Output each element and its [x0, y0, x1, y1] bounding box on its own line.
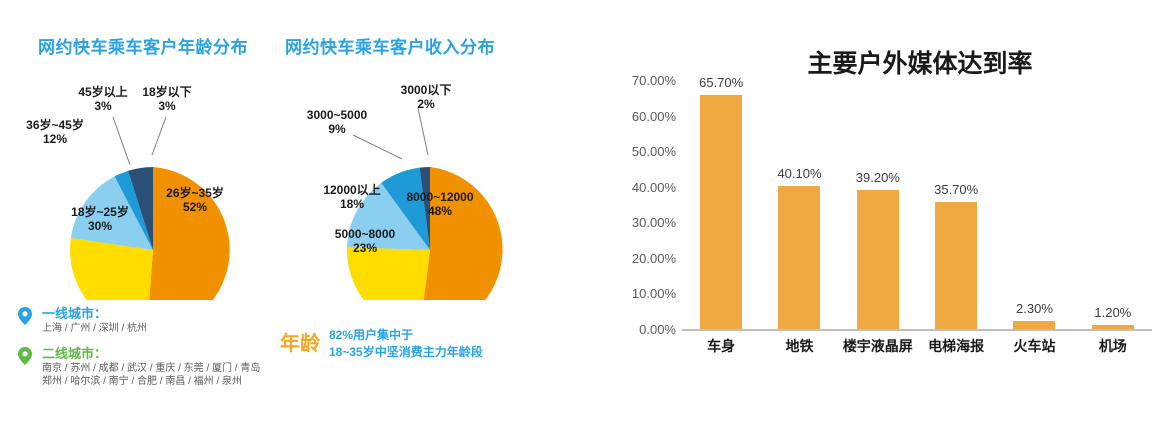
- pie1-label-26-35: 26岁~35岁 52%: [155, 186, 235, 214]
- tier2-city-row: 二线城市： 南京 / 苏州 / 成都 / 武汉 / 重庆 / 东莞 / 厦门 /…: [18, 346, 260, 388]
- bar-chart-bar[interactable]: [778, 186, 820, 329]
- pie2-title: 网约快车乘车客户收入分布: [285, 33, 495, 58]
- pie2-label-3000-5000-name: 3000~5000: [307, 108, 367, 122]
- bar-chart-bar-group[interactable]: 35.70%电梯海报: [917, 80, 995, 329]
- tier1-city-row: 一线城市： 上海 / 广州 / 深圳 / 杭州: [18, 306, 260, 335]
- age-callout-text: 82%用户集中于 18~35岁中坚消费主力年龄段: [329, 327, 483, 361]
- tier2-city-list-line1: 南京 / 苏州 / 成都 / 武汉 / 重庆 / 东莞 / 厦门 / 青岛: [42, 362, 260, 375]
- bar-chart-category-label: 机场: [1074, 336, 1152, 356]
- pie1-label-36-45-name: 36岁~45岁: [26, 118, 84, 132]
- bar-chart-ytick: 30.00%: [606, 216, 676, 229]
- bar-chart: 70.00%60.00%50.00%40.00%30.00%20.00%10.0…: [600, 80, 1160, 400]
- bar-chart-plot-area: 65.70%车身40.10%地铁39.20%楼宇液晶屏35.70%电梯海报2.3…: [682, 80, 1152, 329]
- age-callout-line1: 82%用户集中于: [329, 327, 483, 344]
- bar-chart-value-label: 1.20%: [1094, 306, 1131, 319]
- bar-chart-bar-group[interactable]: 2.30%火车站: [995, 80, 1073, 329]
- bar-chart-category-label: 楼宇液晶屏: [839, 336, 917, 356]
- pie1-label-45-plus-name: 45岁以上: [78, 85, 127, 99]
- pie2-label-12000-above: 12000以上 18%: [310, 183, 394, 211]
- bar-chart-category-label: 车身: [682, 336, 760, 356]
- pie1-label-18-below: 18岁以下 3%: [136, 85, 198, 113]
- bar-chart-bar-group[interactable]: 40.10%地铁: [760, 80, 838, 329]
- pie1-label-36-45: 36岁~45岁 12%: [22, 118, 88, 146]
- bar-chart-bar[interactable]: [857, 190, 899, 329]
- pie1-label-18-below-pct: 3%: [158, 99, 175, 113]
- pie2-leader-3000-below: [418, 108, 428, 155]
- pie1-label-18-below-name: 18岁以下: [142, 85, 191, 99]
- bar-chart-value-label: 65.70%: [699, 76, 743, 89]
- pie2-label-3000-below-name: 3000以下: [401, 83, 452, 97]
- city-coverage-block: 一线城市： 上海 / 广州 / 深圳 / 杭州 二线城市： 南京 / 苏州 / …: [18, 306, 260, 399]
- age-callout: 年龄 82%用户集中于 18~35岁中坚消费主力年龄段: [280, 327, 483, 361]
- bar-chart-value-label: 39.20%: [856, 171, 900, 184]
- pie2-label-8000-12000-name: 8000~12000: [406, 190, 473, 204]
- pie2-slice-5000-8000: [347, 247, 430, 300]
- pie2-label-5000-8000-pct: 23%: [353, 241, 377, 255]
- bar-chart-value-label: 2.30%: [1016, 302, 1053, 315]
- pie1-label-26-35-pct: 52%: [183, 200, 207, 214]
- pie1-title: 网约快车乘车客户年龄分布: [38, 33, 248, 58]
- pie2-leader-3000-5000: [353, 135, 402, 159]
- bar-chart-value-label: 35.70%: [934, 183, 978, 196]
- pie2-label-5000-8000-name: 5000~8000: [335, 227, 395, 241]
- tier2-city-label: 二线城市：: [42, 346, 260, 362]
- bar-chart-ytick: 0.00%: [606, 323, 676, 336]
- pie1-label-18-25-pct: 30%: [88, 219, 112, 233]
- pie2-label-12000-above-name: 12000以上: [323, 183, 380, 197]
- pie1-label-18-25: 18岁~25岁 30%: [60, 205, 140, 233]
- pie2-label-3000-below: 3000以下 2%: [390, 83, 462, 111]
- bar-chart-bar[interactable]: [1013, 321, 1055, 329]
- bar-chart-category-label: 火车站: [995, 336, 1073, 356]
- tier1-city-label: 一线城市：: [42, 306, 260, 322]
- bar-chart-ytick: 70.00%: [606, 74, 676, 87]
- pie1-label-26-35-name: 26岁~35岁: [166, 186, 224, 200]
- bar-chart-ytick: 20.00%: [606, 252, 676, 265]
- bar-chart-category-label: 地铁: [760, 336, 838, 356]
- bar-chart-ytick: 50.00%: [606, 145, 676, 158]
- age-callout-badge: 年龄: [280, 334, 320, 355]
- pie1-label-18-25-name: 18岁~25岁: [71, 205, 129, 219]
- bar-chart-y-axis: 70.00%60.00%50.00%40.00%30.00%20.00%10.0…: [600, 80, 676, 330]
- age-callout-line2: 18~35岁中坚消费主力年龄段: [329, 344, 483, 361]
- bar-chart-bar[interactable]: [700, 95, 742, 329]
- pie2-slice-8000-12000: [420, 167, 503, 300]
- pie2-label-12000-above-pct: 18%: [340, 197, 364, 211]
- pie2-label-8000-12000: 8000~12000 48%: [390, 190, 490, 218]
- tier2-city-list-line2: 郑州 / 哈尔滨 / 南宁 / 合肥 / 南昌 / 福州 / 泉州: [42, 375, 260, 388]
- pie2-label-3000-below-pct: 2%: [417, 97, 434, 111]
- map-pin-icon: [18, 347, 32, 365]
- pie1-label-45-plus: 45岁以上 3%: [72, 85, 134, 113]
- bar-chart-ytick: 40.00%: [606, 181, 676, 194]
- bar-chart-x-axis-line: [682, 329, 1152, 331]
- pie2-label-8000-12000-pct: 48%: [428, 204, 452, 218]
- pie2-label-5000-8000: 5000~8000 23%: [320, 227, 410, 255]
- bar-chart-bar-group[interactable]: 65.70%车身: [682, 80, 760, 329]
- pie1-label-36-45-pct: 12%: [43, 132, 67, 146]
- bar-chart-title: 主要户外媒体达到率: [770, 44, 1070, 80]
- map-pin-icon: [18, 307, 32, 325]
- pie1-leader-45plus: [113, 117, 130, 165]
- age-callout-badge-text: 年龄: [280, 333, 320, 355]
- pie2-label-3000-5000-pct: 9%: [328, 122, 345, 136]
- bar-chart-bar-group[interactable]: 39.20%楼宇液晶屏: [839, 80, 917, 329]
- bar-chart-value-label: 40.10%: [777, 167, 821, 180]
- pie1-label-45-plus-pct: 3%: [94, 99, 111, 113]
- bar-chart-ytick: 60.00%: [606, 110, 676, 123]
- pie2-label-3000-5000: 3000~5000 9%: [298, 108, 376, 136]
- tier1-city-list: 上海 / 广州 / 深圳 / 杭州: [42, 322, 260, 335]
- pie1-leader-18below: [152, 117, 166, 155]
- bar-chart-bar[interactable]: [935, 202, 977, 329]
- bar-chart-category-label: 电梯海报: [917, 336, 995, 356]
- bar-chart-bar-group[interactable]: 1.20%机场: [1074, 80, 1152, 329]
- bar-chart-ytick: 10.00%: [606, 287, 676, 300]
